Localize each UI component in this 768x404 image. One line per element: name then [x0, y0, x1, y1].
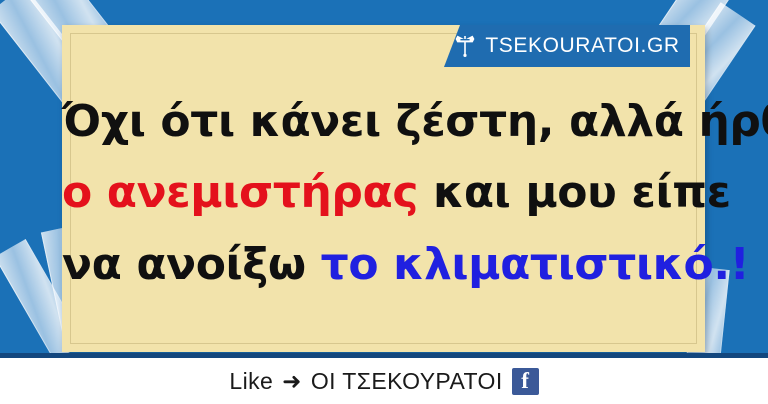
joke-line-3-segment-1: να ανοίξω: [62, 239, 321, 290]
meme-image: TSEKOURATOI.GR Όχι ότι κάνει ζέστη, αλλά…: [0, 0, 768, 404]
facebook-icon[interactable]: f: [512, 368, 539, 395]
joke-line-3: να ανοίξω το κλιματιστικό.!: [62, 229, 705, 300]
joke-line-3-segment-2: το κλιματιστικό.!: [321, 239, 750, 290]
site-watermark-banner[interactable]: TSEKOURATOI.GR: [444, 25, 690, 67]
footer-page-name: ΟΙ ΤΣΕΚΟΥΡΑΤΟΙ: [311, 368, 503, 395]
arrow-icon: ➜: [282, 368, 302, 395]
joke-line-2-segment-1: ο ανεμιστήρας: [62, 167, 418, 218]
footer-bar: Like ➜ ΟΙ ΤΣΕΚΟΥΡΑΤΟΙ f: [0, 358, 768, 404]
axe-icon: [454, 34, 476, 58]
joke-line-2: ο ανεμιστήρας και μου είπε: [62, 157, 705, 228]
joke-text: Όχι ότι κάνει ζέστη, αλλά ήρθε ο ανεμιστ…: [62, 86, 705, 300]
footer-like-label: Like: [229, 368, 273, 395]
joke-line-2-segment-2: και μου είπε: [418, 167, 731, 218]
site-watermark-label: TSEKOURATOI.GR: [485, 34, 679, 58]
joke-line-1-segment-1: Όχι ότι κάνει ζέστη, αλλά ήρθε: [62, 96, 768, 147]
joke-line-1: Όχι ότι κάνει ζέστη, αλλά ήρθε: [62, 86, 705, 157]
